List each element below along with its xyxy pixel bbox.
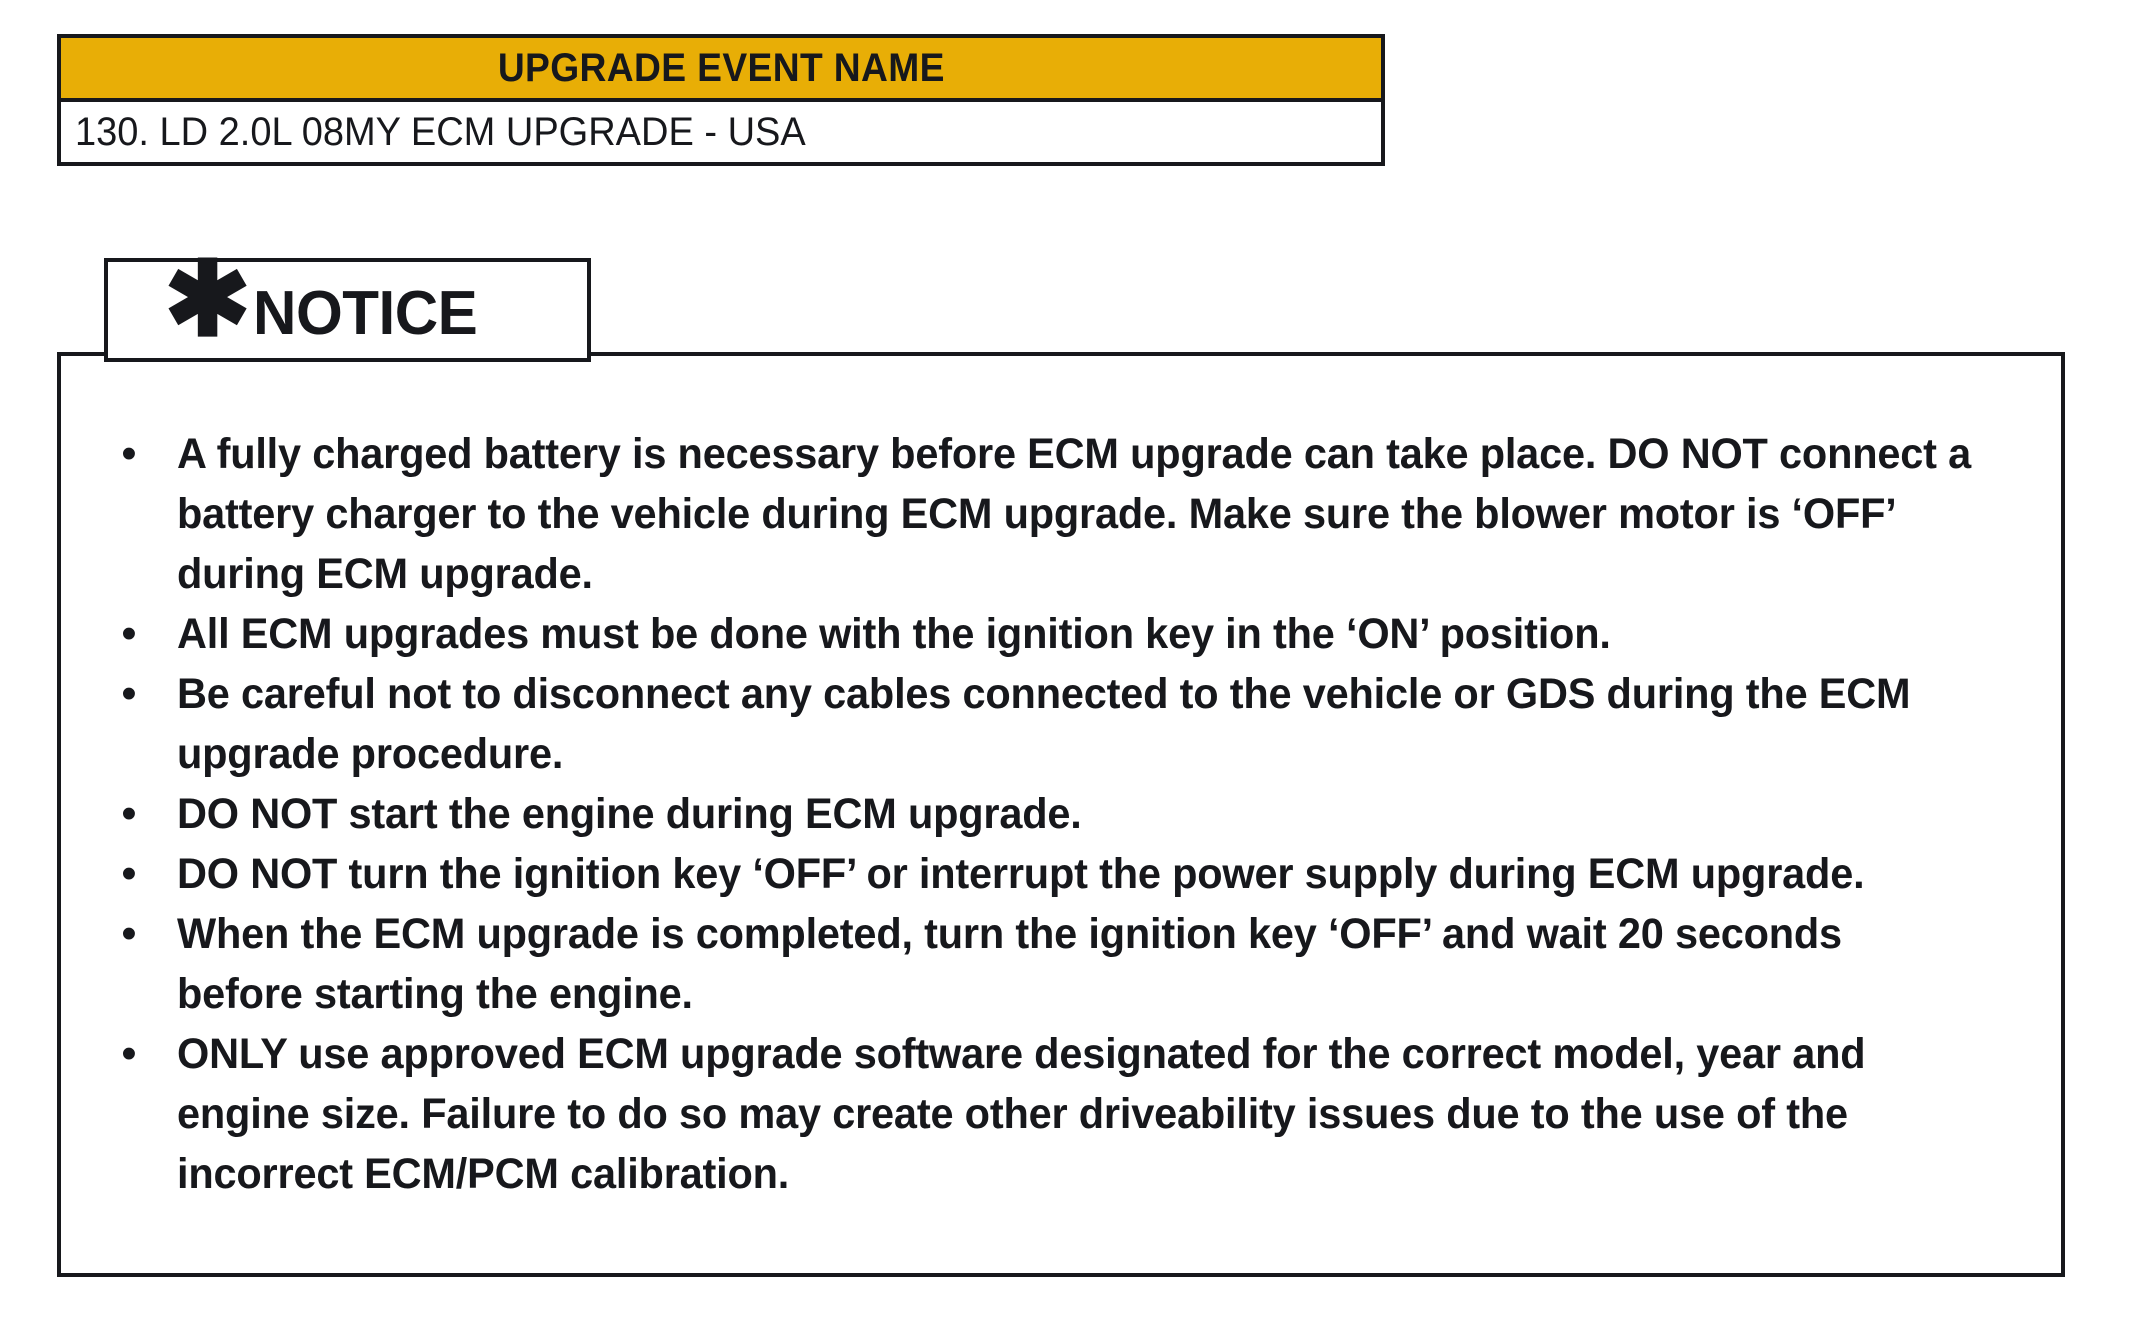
notice-tab-label: NOTICE: [253, 278, 477, 349]
notice-bullet-list: •A fully charged battery is necessary be…: [61, 424, 2061, 1204]
notice-panel: •A fully charged battery is necessary be…: [57, 352, 2065, 1277]
bullet-icon: •: [81, 1024, 177, 1084]
bullet-icon: •: [81, 904, 177, 964]
bullet-icon: •: [81, 664, 177, 724]
notice-list-item-text: Be careful not to disconnect any cables …: [177, 664, 1972, 784]
notice-list-item: •When the ECM upgrade is completed, turn…: [81, 904, 2037, 1024]
notice-tab: ✱ NOTICE: [104, 258, 591, 362]
notice-list-item: •DO NOT start the engine during ECM upgr…: [81, 784, 2037, 844]
bullet-icon: •: [81, 604, 177, 664]
notice-list-item: •A fully charged battery is necessary be…: [81, 424, 2037, 604]
notice-list-item-text: ONLY use approved ECM upgrade software d…: [177, 1024, 1972, 1204]
upgrade-event-table: UPGRADE EVENT NAME 130. LD 2.0L 08MY ECM…: [57, 34, 1385, 166]
asterisk-icon: ✱: [164, 268, 251, 332]
upgrade-event-header-row: UPGRADE EVENT NAME: [61, 38, 1381, 102]
notice-list-item: •All ECM upgrades must be done with the …: [81, 604, 2037, 664]
notice-list-item: •DO NOT turn the ignition key ‘OFF’ or i…: [81, 844, 2037, 904]
notice-list-item-text: DO NOT start the engine during ECM upgra…: [177, 784, 1972, 844]
bullet-icon: •: [81, 844, 177, 904]
bullet-icon: •: [81, 424, 177, 484]
notice-list-item: •Be careful not to disconnect any cables…: [81, 664, 2037, 784]
notice-list-item-text: All ECM upgrades must be done with the i…: [177, 604, 1972, 664]
upgrade-event-value-label: 130. LD 2.0L 08MY ECM UPGRADE - USA: [75, 110, 806, 155]
notice-list-item-text: When the ECM upgrade is completed, turn …: [177, 904, 1972, 1024]
upgrade-event-value-row: 130. LD 2.0L 08MY ECM UPGRADE - USA: [61, 102, 1381, 162]
notice-list-item: •ONLY use approved ECM upgrade software …: [81, 1024, 2037, 1204]
bullet-icon: •: [81, 784, 177, 844]
notice-list-item-text: DO NOT turn the ignition key ‘OFF’ or in…: [177, 844, 1972, 904]
upgrade-event-header-label: UPGRADE EVENT NAME: [498, 46, 945, 91]
notice-list-item-text: A fully charged battery is necessary bef…: [177, 424, 1972, 604]
